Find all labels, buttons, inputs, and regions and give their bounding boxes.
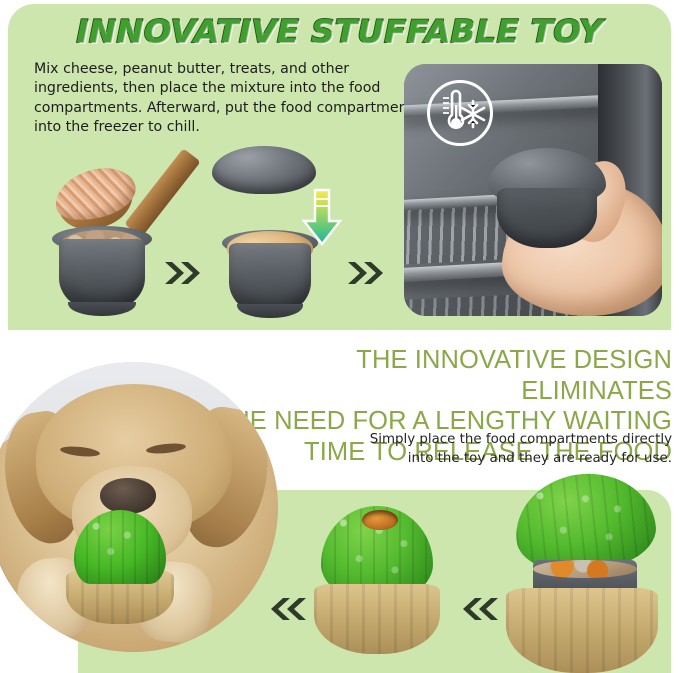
food-opening — [362, 510, 398, 530]
assembly-arrow-down-1 — [300, 187, 344, 254]
compartment-foot — [237, 304, 302, 318]
arrow-down-gradient-icon — [300, 187, 344, 249]
wooden-spoon-handle — [124, 148, 200, 237]
subcopy-line-2: into the toy and they are ready for use. — [300, 449, 672, 468]
page-title: INNOVATIVE STUFFABLE TOY — [0, 14, 679, 50]
dog-using-toy-photo — [0, 362, 278, 652]
compartment-body — [497, 188, 597, 248]
chevron-left-double-icon — [460, 596, 500, 622]
infographic-page: INNOVATIVE STUFFABLE TOY Mix cheese, pea… — [0, 0, 679, 673]
snowflake-icon — [462, 101, 484, 127]
cactus-toy-base — [506, 588, 658, 673]
subcopy-line-1: Simply place the food compartments direc… — [300, 430, 672, 449]
dog-nose — [100, 478, 156, 514]
chevron-right-double-icon — [163, 260, 203, 286]
connector-chevron-right-1 — [163, 260, 203, 286]
compartment-body — [59, 239, 145, 311]
thermometer-scale — [443, 98, 449, 113]
freeze-badge — [427, 80, 493, 146]
food-compartment-in-hand — [488, 148, 606, 250]
cactus-toy-base — [314, 584, 440, 654]
connector-chevron-left-2 — [460, 596, 500, 622]
section-subcopy: Simply place the food compartments direc… — [300, 430, 672, 468]
food-fill-visible — [533, 560, 637, 578]
connector-chevron-right-2 — [346, 260, 386, 286]
top-section-body-text: Mix cheese, peanut butter, treats, and o… — [34, 60, 426, 138]
chevron-right-double-icon — [346, 260, 386, 286]
compartment-foot — [68, 302, 136, 316]
freezer-photo — [404, 64, 662, 316]
food-compartment-with-meat — [52, 226, 152, 312]
